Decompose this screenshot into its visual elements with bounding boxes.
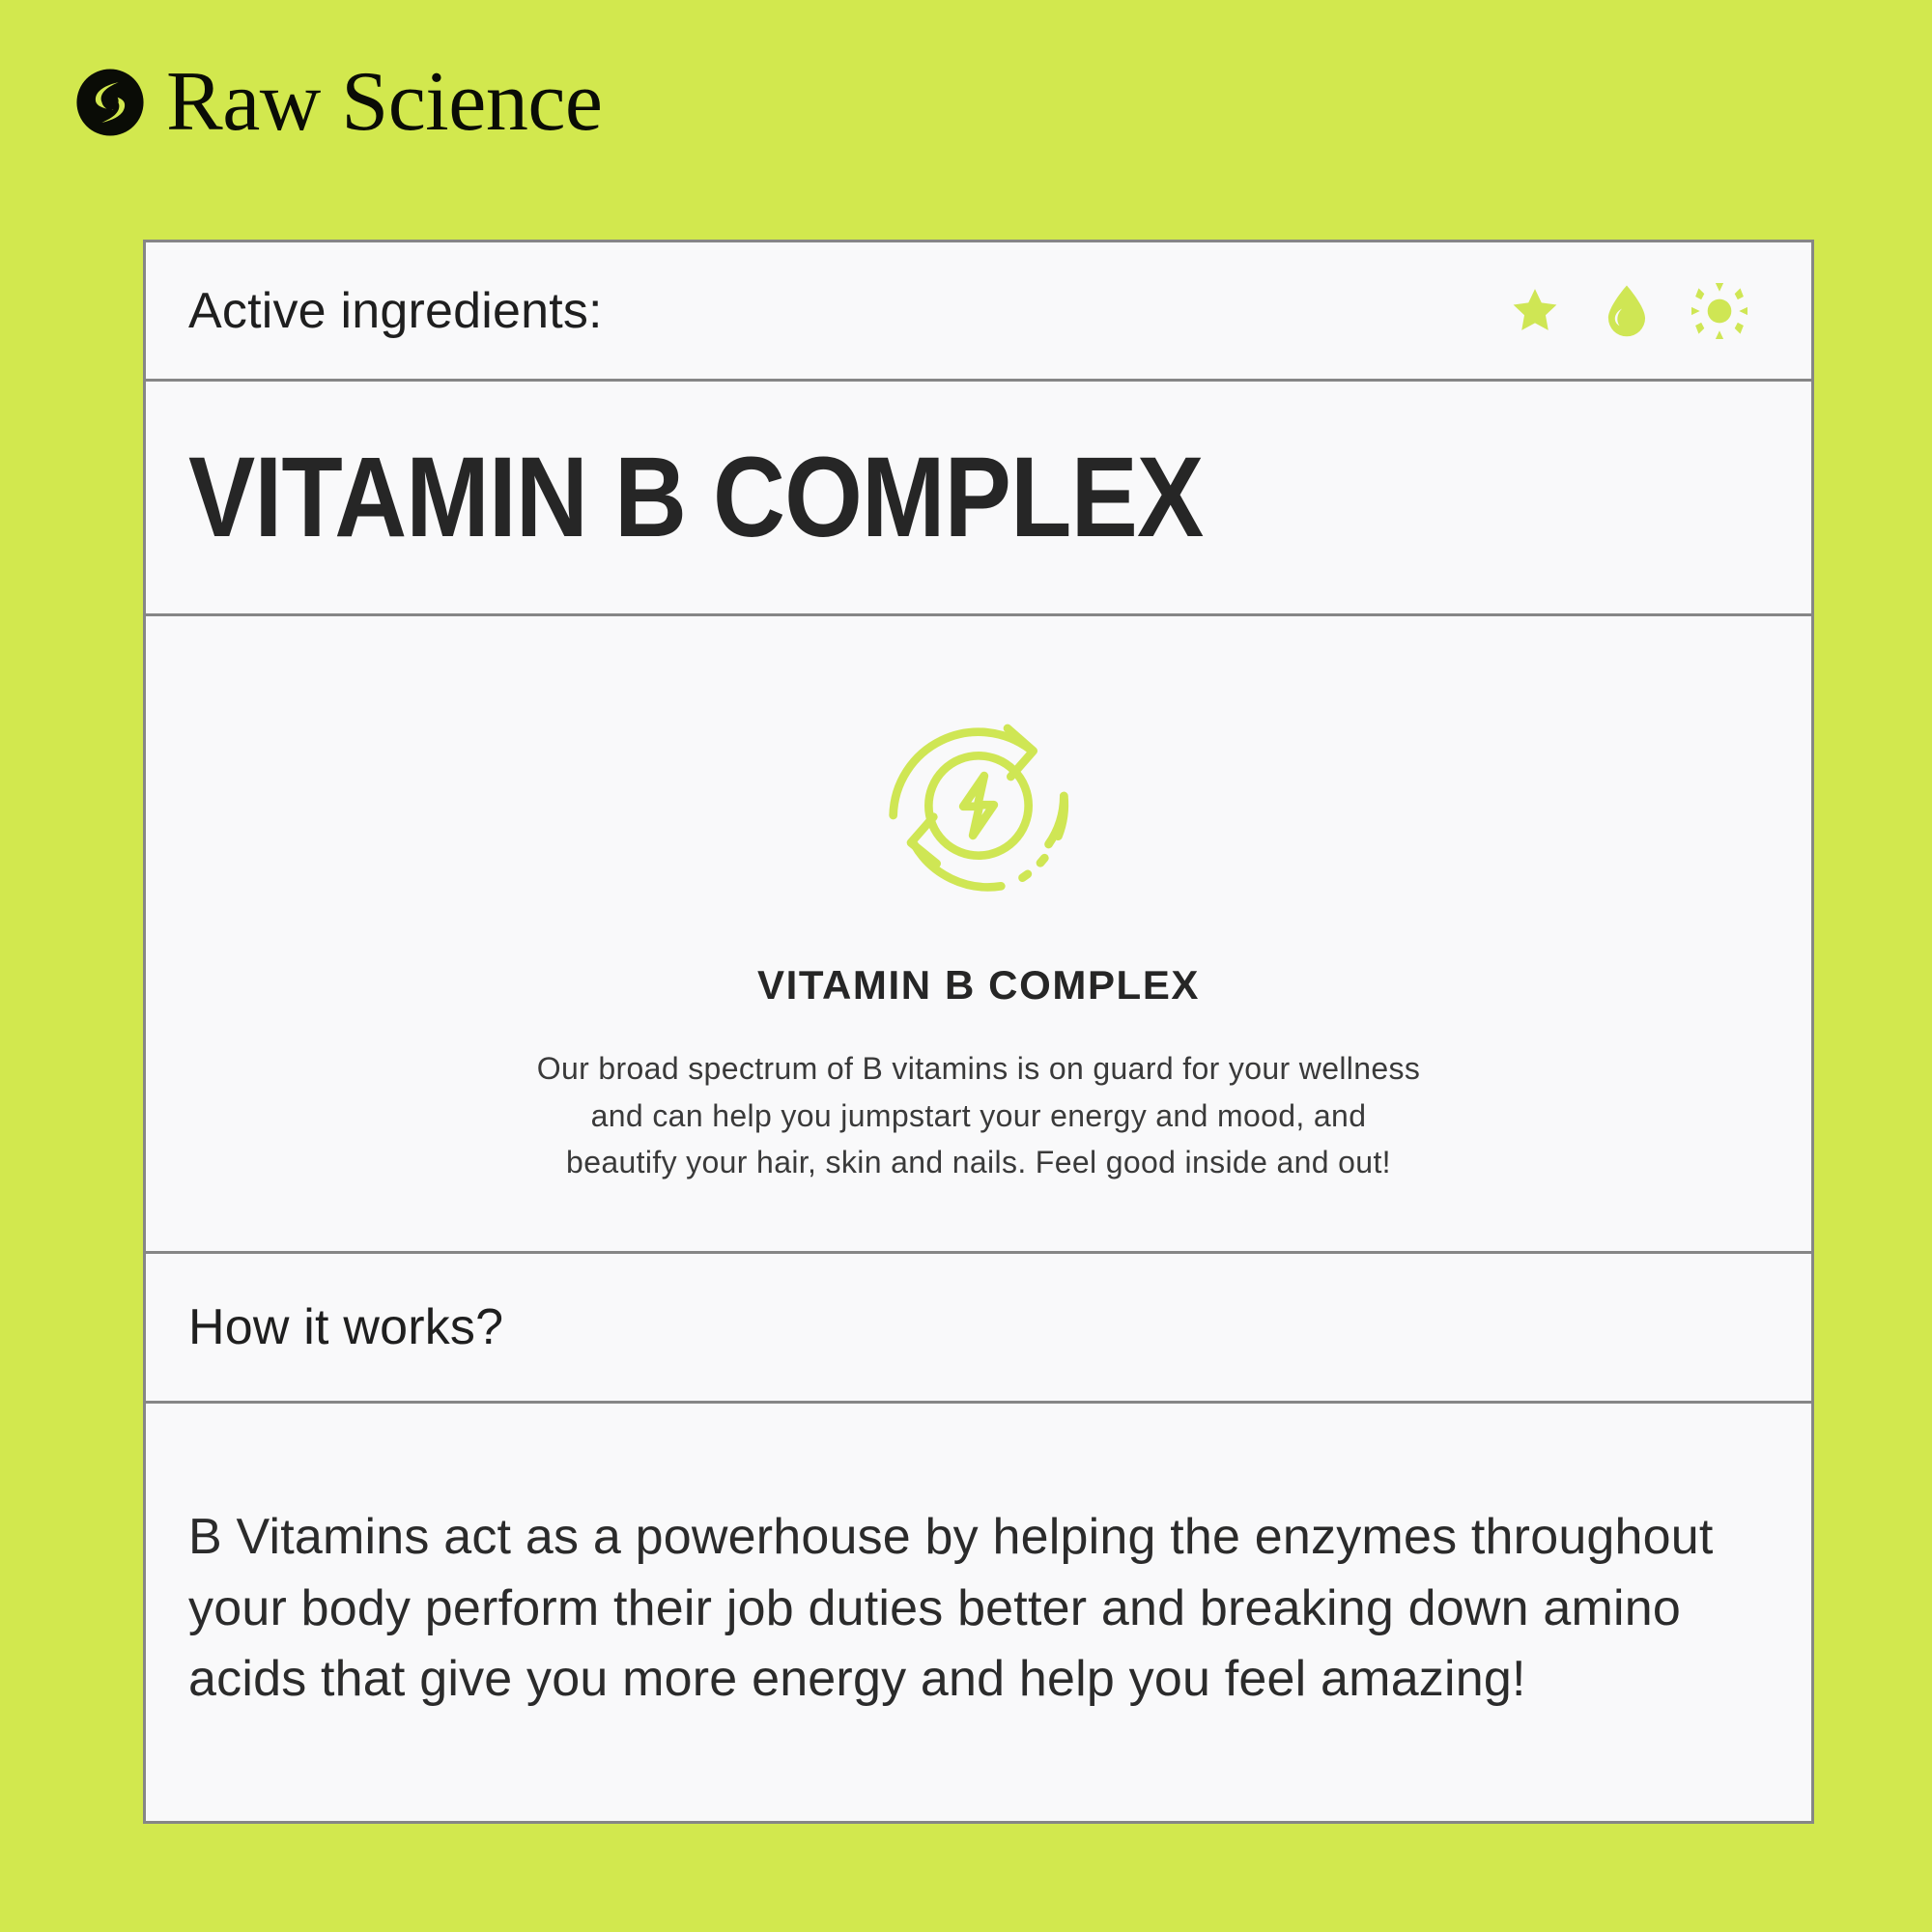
benefit-icon-group <box>1508 283 1769 339</box>
card-body-row: B Vitamins act as a powerhouse by helpin… <box>146 1404 1811 1814</box>
card-header-row: Active ingredients: <box>146 242 1811 382</box>
ingredient-card: Active ingredients: <box>143 240 1814 1824</box>
feature-title: VITAMIN B COMPLEX <box>757 962 1200 1009</box>
card-feature-row: VITAMIN B COMPLEX Our broad spectrum of … <box>146 616 1811 1254</box>
brand-logo: Raw Science <box>75 60 602 145</box>
brand-name: Raw Science <box>166 60 602 145</box>
feature-description-line: and can help you jumpstart your energy a… <box>537 1093 1421 1140</box>
feature-description-line: Our broad spectrum of B vitamins is on g… <box>537 1045 1421 1093</box>
how-it-works-body: B Vitamins act as a powerhouse by helpin… <box>188 1502 1753 1716</box>
card-how-row: How it works? <box>146 1254 1811 1404</box>
energy-refresh-icon <box>882 709 1075 902</box>
active-ingredients-label: Active ingredients: <box>188 282 603 340</box>
page-title: VITAMIN B COMPLEX <box>188 440 1203 554</box>
card-title-row: VITAMIN B COMPLEX <box>146 382 1811 616</box>
star-icon <box>1508 284 1562 338</box>
feature-description: Our broad spectrum of B vitamins is on g… <box>537 1045 1421 1186</box>
how-it-works-label: How it works? <box>188 1298 503 1356</box>
droplet-icon <box>1603 283 1651 339</box>
leaf-circle-logo-icon <box>75 68 145 137</box>
feature-description-line: beautify your hair, skin and nails. Feel… <box>537 1139 1421 1186</box>
sun-icon <box>1691 283 1747 339</box>
poster-page: Raw Science Active ingredients: <box>0 0 1932 1932</box>
